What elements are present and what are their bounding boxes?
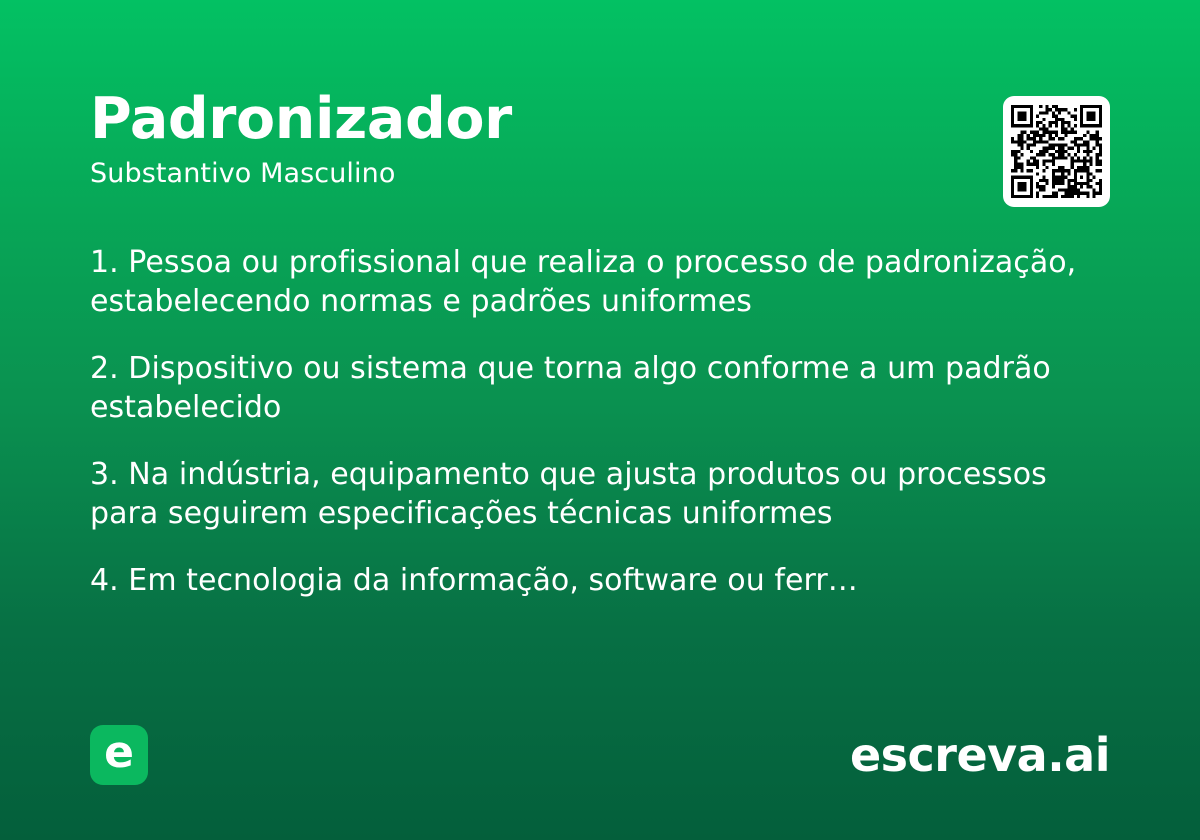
qr-code-card[interactable] [1003,96,1110,207]
definition-list: 1. Pessoa ou profissional que realiza o … [90,243,1100,600]
qr-code-icon [1011,105,1102,198]
page-title: Padronizador [90,88,990,150]
logo-letter: e [104,731,134,775]
definition-item-4: 4. Em tecnologia da informação, software… [90,561,1100,600]
definition-card: Padronizador Substantivo Masculino 1. Pe… [0,0,1200,840]
word-class-subtitle: Substantivo Masculino [90,158,990,190]
brand-wordmark: escreva.ai [850,730,1110,780]
definition-item-1: 1. Pessoa ou profissional que realiza o … [90,243,1100,321]
card-footer: e escreva.ai [90,725,1110,785]
definition-item-2: 2. Dispositivo ou sistema que torna algo… [90,349,1100,427]
definition-item-3: 3. Na indústria, equipamento que ajusta … [90,455,1100,533]
escreva-logo-icon: e [90,725,148,785]
card-header: Padronizador Substantivo Masculino [90,88,990,190]
